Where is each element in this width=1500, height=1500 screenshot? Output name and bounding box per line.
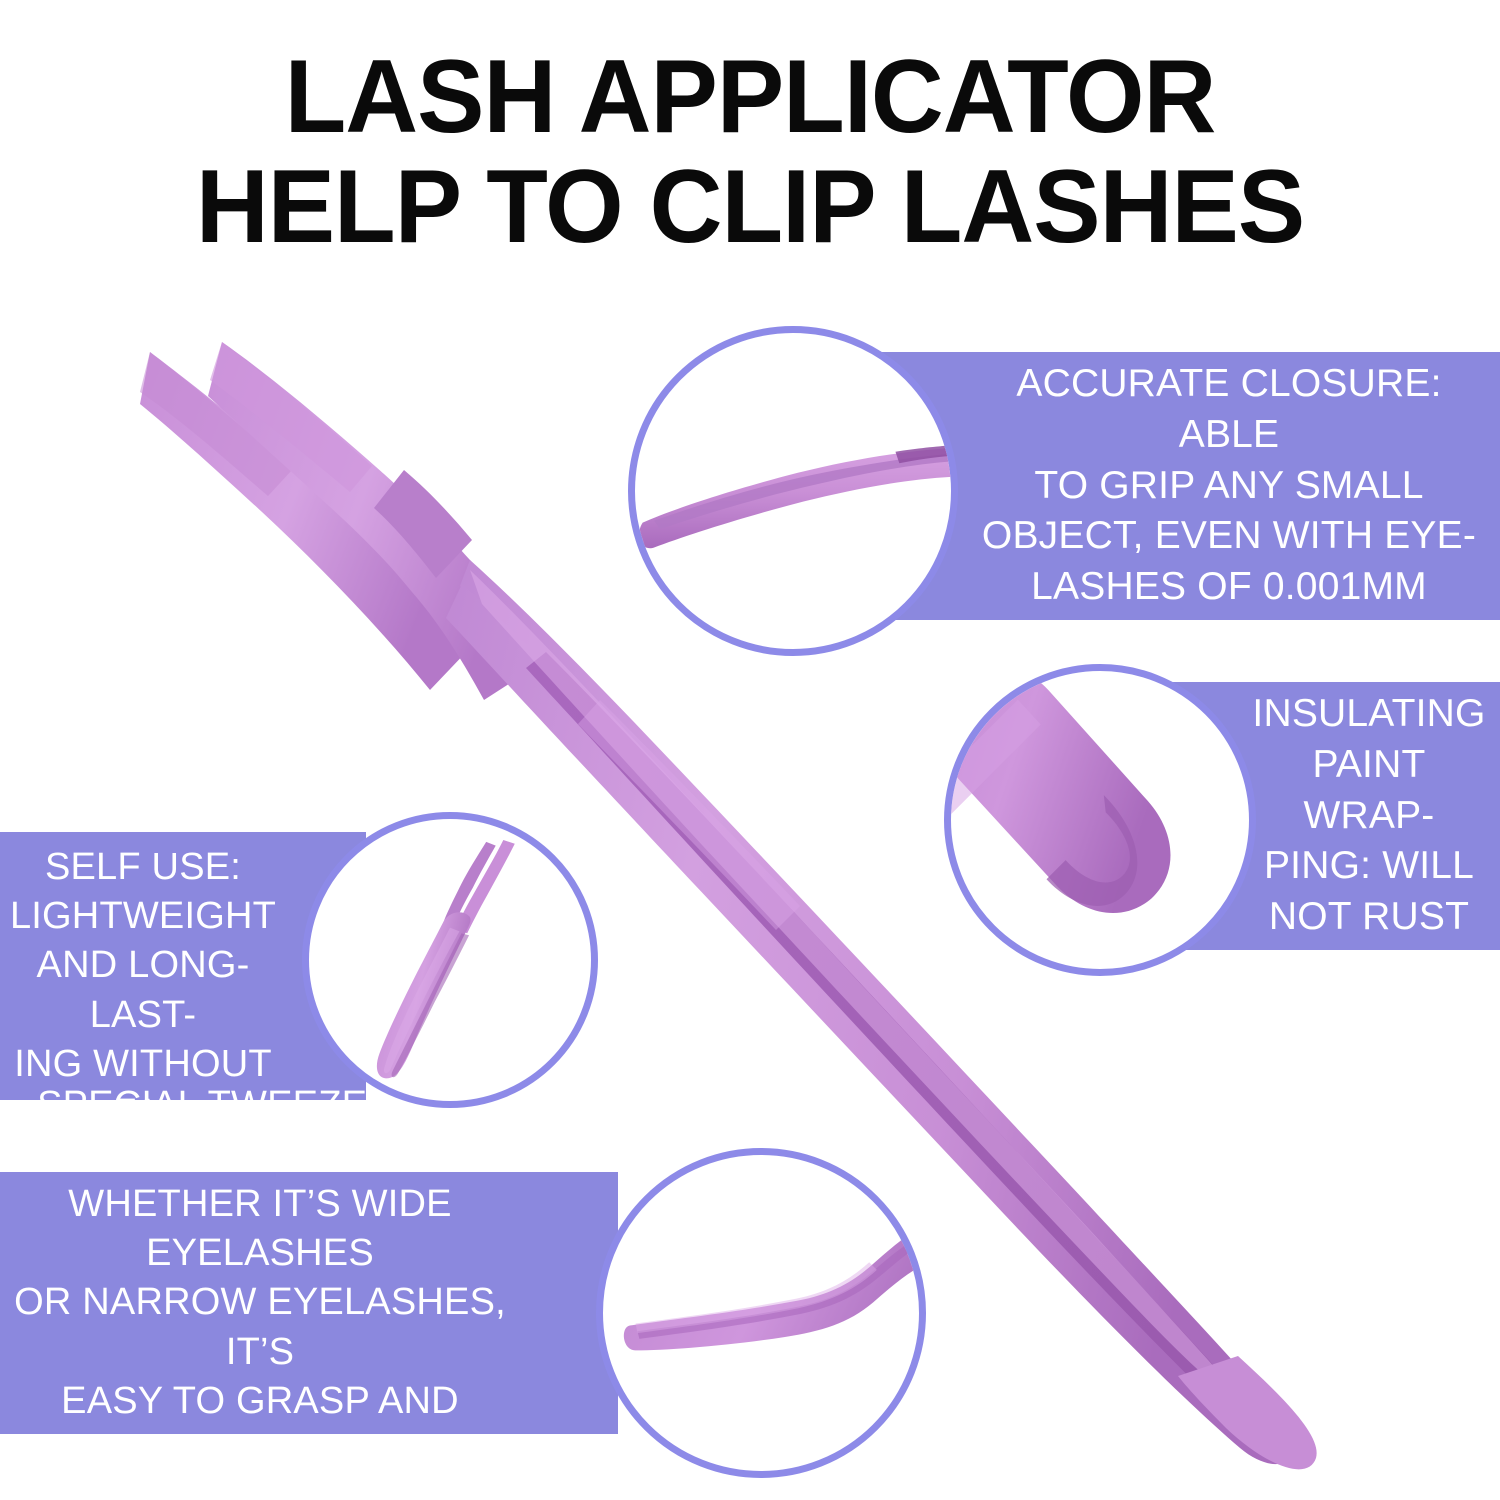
tweezer-junction xyxy=(374,470,472,578)
tweezer-upper-arm xyxy=(140,352,470,690)
callout-insulating-paint-text: INSULATING PAINT WRAP- PING: WILL NOT RU… xyxy=(1250,689,1488,942)
callout-accurate-closure-text: ACCURATE CLOSURE: ABLE TO GRIP ANY SMALL… xyxy=(980,359,1478,612)
page-title: LASH APPLICATOR HELP TO CLIP LASHES xyxy=(0,42,1500,262)
whole-tool-detail-icon xyxy=(309,819,591,1101)
infographic-page: LASH APPLICATOR HELP TO CLIP LASHES ACCU… xyxy=(0,0,1500,1500)
title-line-2: HELP TO CLIP LASHES xyxy=(23,152,1478,262)
top-design-detail-icon xyxy=(603,1155,919,1471)
tweezer-lower-arm xyxy=(208,342,540,700)
zoom-circle-closed-tip xyxy=(628,326,958,656)
handle-end-detail-icon xyxy=(951,671,1249,969)
closed-tip-detail-icon xyxy=(635,333,951,649)
title-line-1: LASH APPLICATOR xyxy=(23,42,1478,152)
callout-tweezer-top-design-text: SPECIAL TWEEZER TOP DESIGN: WHETHER IT’S… xyxy=(12,1081,508,1500)
tweezer-bend-highlight xyxy=(578,700,800,930)
zoom-circle-handle-end xyxy=(944,664,1256,976)
callout-tweezer-top-design: SPECIAL TWEEZER TOP DESIGN: WHETHER IT’S… xyxy=(0,1172,618,1434)
zoom-circle-whole-tool xyxy=(302,812,598,1108)
zoom-circle-top-design xyxy=(596,1148,926,1478)
